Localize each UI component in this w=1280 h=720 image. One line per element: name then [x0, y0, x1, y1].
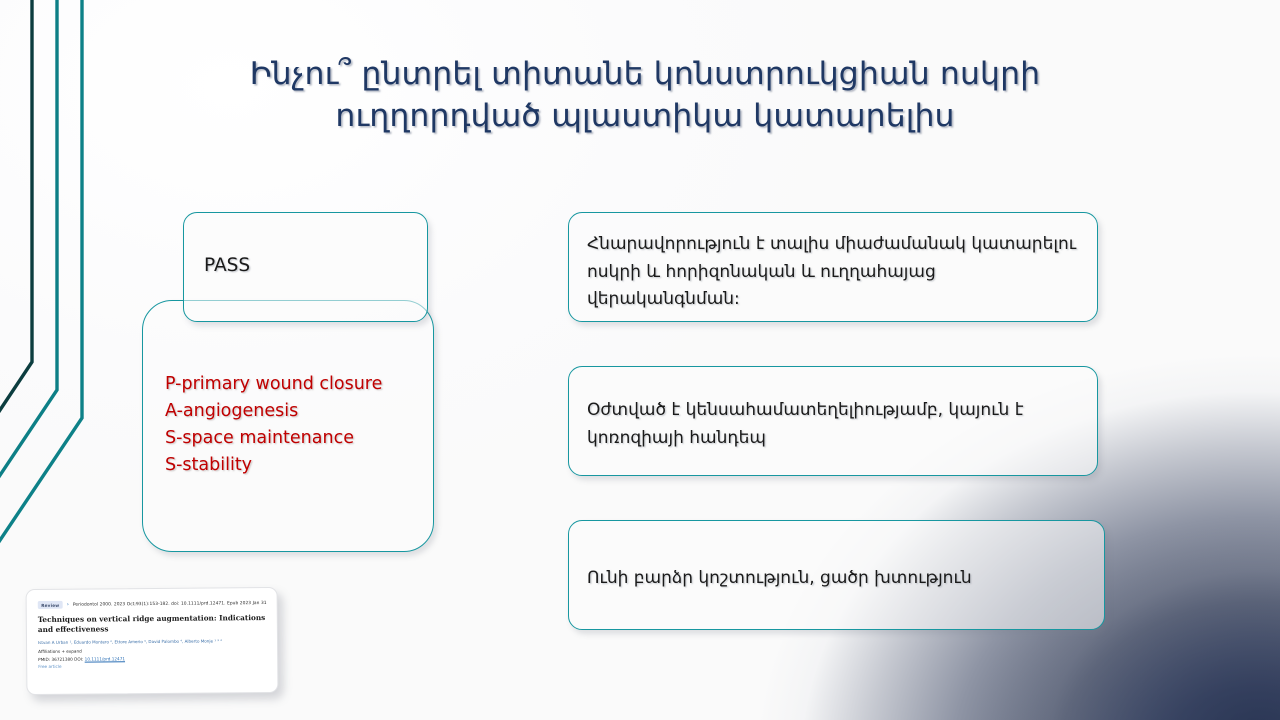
benefit-box-2-text: Օժտված է կենսահամատեղելիությամբ, կայուն … — [587, 397, 1081, 452]
pass-detail-box: P-primary wound closure A-angiogenesis S… — [142, 300, 434, 552]
pass-detail-item: A-angiogenesis — [165, 398, 382, 425]
slide-canvas: Ինչու՞ ընտրել տիտանե կոնստրուկցիան ոսկրի… — [0, 0, 1280, 720]
pass-detail-item: S-stability — [165, 452, 382, 479]
citation-authors: Istvan A Urban ¹, Eduardo Montero ², Ett… — [38, 638, 267, 646]
citation-doi-label: DOI: — [74, 657, 83, 662]
decorative-line-2 — [0, 0, 57, 520]
benefit-box-2: Օժտված է կենսահամատեղելիությամբ, կայուն … — [568, 366, 1098, 476]
citation-affiliations-toggle[interactable]: Affiliations + expand — [38, 647, 267, 654]
citation-identifiers: PMID: 36721380 DOI: 10.1111/prd.12471 — [38, 655, 267, 662]
chevron-right-icon: › — [67, 602, 69, 608]
decorative-line-3 — [0, 0, 82, 570]
citation-type-badge: Review — [38, 601, 63, 609]
citation-free-article-link[interactable]: Free article — [38, 662, 267, 669]
citation-title: Techniques on vertical ridge augmentatio… — [38, 613, 267, 635]
pass-detail-item: S-space maintenance — [165, 425, 382, 452]
pass-box: PASS — [183, 212, 428, 322]
citation-source: Periodontol 2000. 2023 Oct;93(1):153-182… — [73, 600, 267, 607]
citation-pmid: PMID: 36721380 — [38, 657, 73, 662]
benefit-box-3: Ունի բարձր կոշտություն, ցածր խտություն — [568, 520, 1105, 630]
benefit-box-3-text: Ունի բարձր կոշտություն, ցածր խտություն — [587, 565, 1088, 593]
page-title: Ինչու՞ ընտրել տիտանե կոնստրուկցիան ոսկրի… — [180, 54, 1110, 138]
pass-detail-list: P-primary wound closure A-angiogenesis S… — [165, 371, 382, 480]
decorative-line-1 — [0, 0, 32, 470]
benefit-box-1: Հնարավորություն է տալիս միաժամանակ կատար… — [568, 212, 1098, 322]
pass-detail-item: P-primary wound closure — [165, 371, 382, 398]
citation-header: Review › Periodontol 2000. 2023 Oct;93(1… — [38, 599, 267, 609]
background-corner-gradient — [660, 270, 1280, 720]
pass-box-label: PASS — [204, 255, 250, 276]
citation-card: Review › Periodontol 2000. 2023 Oct;93(1… — [26, 587, 279, 695]
benefit-box-1-text: Հնարավորություն է տալիս միաժամանակ կատար… — [587, 231, 1081, 314]
citation-doi-link[interactable]: 10.1111/prd.12471 — [85, 656, 125, 661]
